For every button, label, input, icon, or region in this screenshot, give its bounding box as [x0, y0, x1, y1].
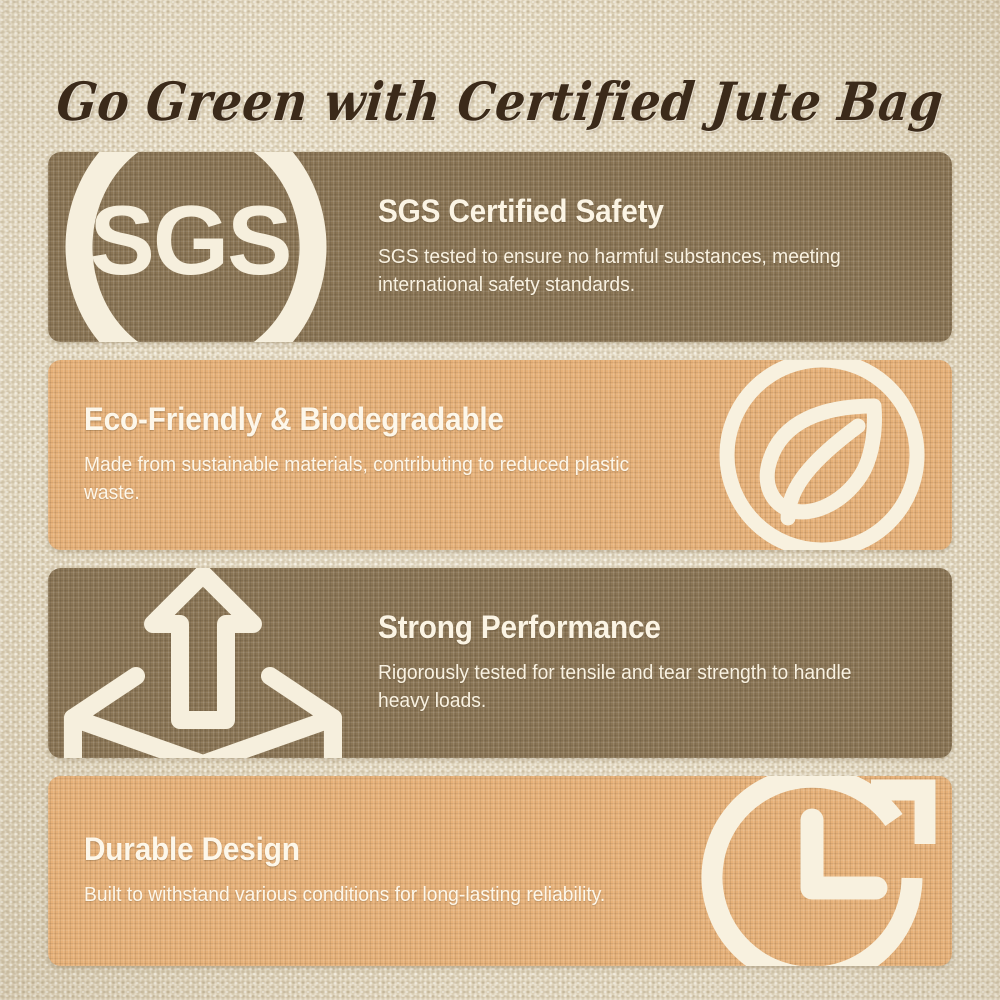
card-icon-slot-left: SGS — [48, 152, 358, 342]
sgs-certification-logo-icon: SGS — [48, 152, 358, 342]
card-text-block: Durable Design Built to withstand variou… — [84, 776, 704, 966]
feature-card-list: SGS SGS Certified Safety SGS tested to e… — [48, 152, 952, 966]
card-heading: SGS Certified Safety — [378, 195, 899, 229]
page-title: Go Green with Certified Jute Bag — [54, 72, 946, 134]
poster-title-container: Go Green with Certified Jute Bag — [0, 44, 1000, 162]
feature-card-sgs-certified-safety[interactable]: SGS SGS Certified Safety SGS tested to e… — [48, 152, 952, 342]
card-icon-slot-left — [48, 568, 358, 758]
card-icon-slot-right — [672, 776, 952, 966]
leaf-in-circle-icon — [672, 360, 952, 550]
poster-canvas: Go Green with Certified Jute Bag SGS SGS… — [0, 0, 1000, 1000]
feature-card-strong-performance[interactable]: Strong Performance Rigorously tested for… — [48, 568, 952, 758]
card-text-block: Eco-Friendly & Biodegradable Made from s… — [84, 360, 704, 550]
sgs-logo-text: SGS — [90, 185, 291, 295]
card-text-block: Strong Performance Rigorously tested for… — [378, 568, 938, 758]
card-description: SGS tested to ensure no harmful substanc… — [378, 243, 904, 300]
card-text-block: SGS Certified Safety SGS tested to ensur… — [378, 152, 938, 342]
card-heading: Strong Performance — [378, 611, 899, 645]
card-heading: Durable Design — [84, 833, 661, 867]
card-heading: Eco-Friendly & Biodegradable — [84, 403, 661, 437]
card-icon-slot-right — [672, 360, 952, 550]
feature-card-eco-friendly-biodegradable[interactable]: Eco-Friendly & Biodegradable Made from s… — [48, 360, 952, 550]
card-description: Built to withstand various conditions fo… — [84, 881, 648, 909]
clock-history-rotate-icon — [672, 776, 952, 966]
box-load-up-arrow-icon — [48, 568, 358, 758]
feature-card-durable-design[interactable]: Durable Design Built to withstand variou… — [48, 776, 952, 966]
card-description: Rigorously tested for tensile and tear s… — [378, 659, 904, 716]
card-description: Made from sustainable materials, contrib… — [84, 451, 648, 508]
